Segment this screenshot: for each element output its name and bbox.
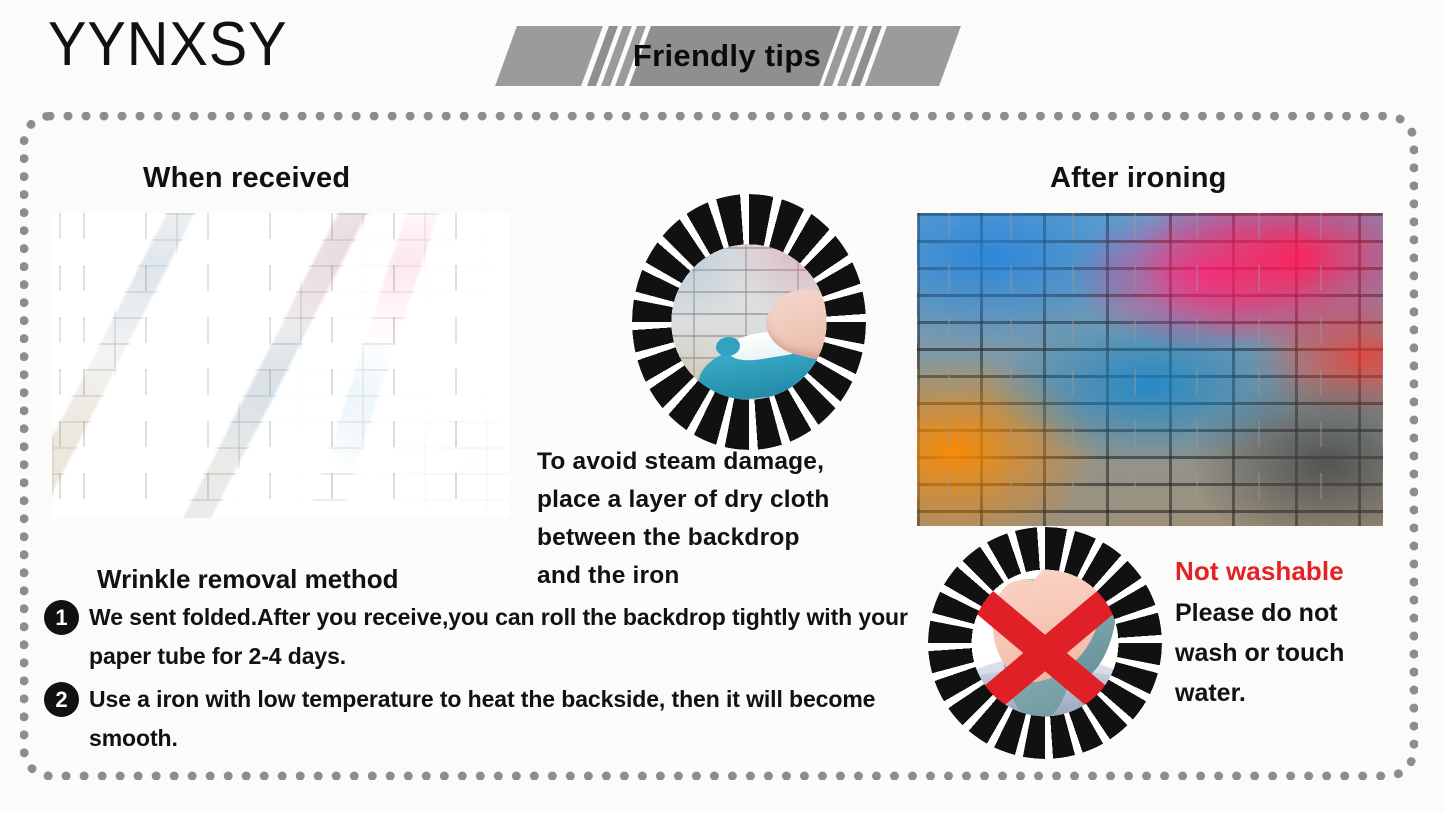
banner-title: Friendly tips xyxy=(512,26,942,86)
not-washable-line-2: wash or touch xyxy=(1175,633,1415,673)
step-text: Use a iron with low temperature to heat … xyxy=(89,680,924,758)
not-washable-line-3: water. xyxy=(1175,673,1415,713)
not-washable-line-1: Please do not xyxy=(1175,593,1415,633)
step-text: We sent folded.After you receive,you can… xyxy=(89,598,924,676)
not-washable-block: Not washable Please do not wash or touch… xyxy=(1175,556,1415,713)
image-backdrop-smooth xyxy=(917,213,1383,526)
image-no-washing xyxy=(928,527,1162,759)
dashed-ring-border xyxy=(928,527,1162,759)
steam-warning-text: To avoid steam damage, place a layer of … xyxy=(537,443,927,595)
wrinkle-step-2: 2 Use a iron with low temperature to hea… xyxy=(44,680,924,758)
flyer-page: YYNXSY Friendly tips When received After… xyxy=(0,0,1445,813)
steam-line-2: place a layer of dry cloth xyxy=(537,481,927,519)
dashed-ring-border xyxy=(632,194,866,450)
brand-logo: YYNXSY xyxy=(48,14,288,76)
step-number-badge: 1 xyxy=(44,600,79,635)
step-number-badge: 2 xyxy=(44,682,79,717)
heading-when-received: When received xyxy=(143,162,350,195)
heading-after-ironing: After ironing xyxy=(1050,162,1227,195)
friendly-tips-banner: Friendly tips xyxy=(512,26,942,86)
steam-line-1: To avoid steam damage, xyxy=(537,443,927,481)
steam-line-3: between the backdrop xyxy=(537,519,927,557)
image-ironing-demo xyxy=(632,194,866,450)
wrinkle-removal-title: Wrinkle removal method xyxy=(97,564,399,595)
steam-line-4: and the iron xyxy=(537,557,927,595)
not-washable-title: Not washable xyxy=(1175,556,1415,587)
wrinkle-step-1: 1 We sent folded.After you receive,you c… xyxy=(44,598,924,676)
not-washable-body: Please do not wash or touch water. xyxy=(1175,593,1415,713)
image-backdrop-wrinkled xyxy=(52,213,510,518)
